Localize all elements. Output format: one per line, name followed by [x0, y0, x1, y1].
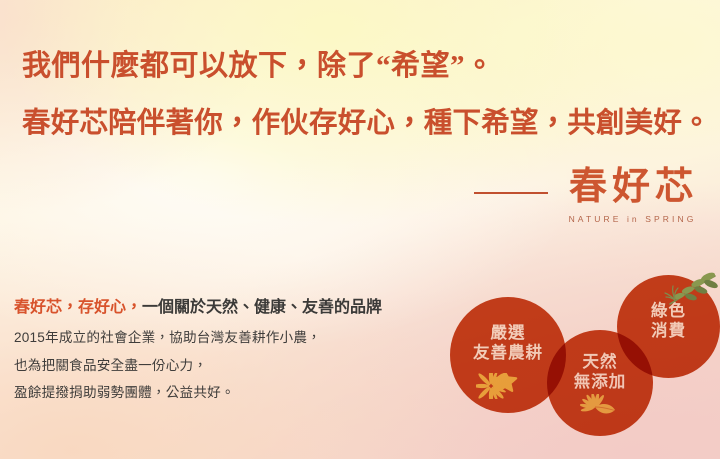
headline-group: 我們什麼都可以放下，除了“希望”。 春好芯陪伴著你，作伙存好心，種下希望，共創美… — [22, 52, 712, 139]
logo-text-group: 春好芯 NATURE in SPRING — [564, 168, 698, 224]
value-badge-cluster: 嚴選 友善農耕 — [450, 268, 720, 459]
lede-rest-text: 一個關於天然、健康、友善的品牌 — [142, 299, 382, 316]
body-line: 盈餘提撥捐助弱勢團體，公益共好。 — [14, 386, 484, 400]
badge-selection-line-1: 嚴選 — [491, 323, 526, 343]
body-line: 也為把關食品安全盡一份心力， — [14, 359, 484, 373]
body-copy-block: 春好芯，存好心，一個關於天然、健康、友善的品牌 2015年成立的社會企業，協助台… — [14, 298, 484, 400]
leaf-gold-icon — [580, 394, 620, 420]
badge-selection-line-2: 友善農耕 — [473, 343, 543, 363]
logo-rule-divider — [474, 192, 548, 194]
poster-canvas: 我們什麼都可以放下，除了“希望”。 春好芯陪伴著你，作伙存好心，種下希望，共創美… — [0, 0, 720, 459]
badge-green-line-1: 綠色 — [651, 301, 686, 321]
badge-green: 綠色 消費 — [617, 275, 720, 378]
badge-green-line-2: 消費 — [651, 321, 686, 341]
flower-star-icon — [476, 373, 538, 399]
body-paragraph: 2015年成立的社會企業，協助台灣友善耕作小農， 也為把關食品安全盡一份心力， … — [14, 331, 484, 400]
brand-logo: 春好芯 NATURE in SPRING — [474, 168, 698, 224]
headline-line-1: 我們什麼都可以放下，除了“希望”。 — [22, 52, 712, 81]
headline-line-2: 春好芯陪伴著你，作伙存好心，種下希望，共創美好。 — [22, 110, 712, 139]
lede-line: 春好芯，存好心，一個關於天然、健康、友善的品牌 — [14, 298, 484, 317]
body-line: 2015年成立的社會企業，協助台灣友善耕作小農， — [14, 331, 484, 345]
logo-tagline: NATURE in SPRING — [564, 214, 698, 224]
lede-accent-text: 春好芯，存好心， — [14, 299, 142, 316]
badge-natural-line-2: 無添加 — [574, 372, 627, 392]
logo-wordmark: 春好芯 — [564, 168, 698, 206]
badge-natural-line-1: 天然 — [583, 352, 618, 372]
